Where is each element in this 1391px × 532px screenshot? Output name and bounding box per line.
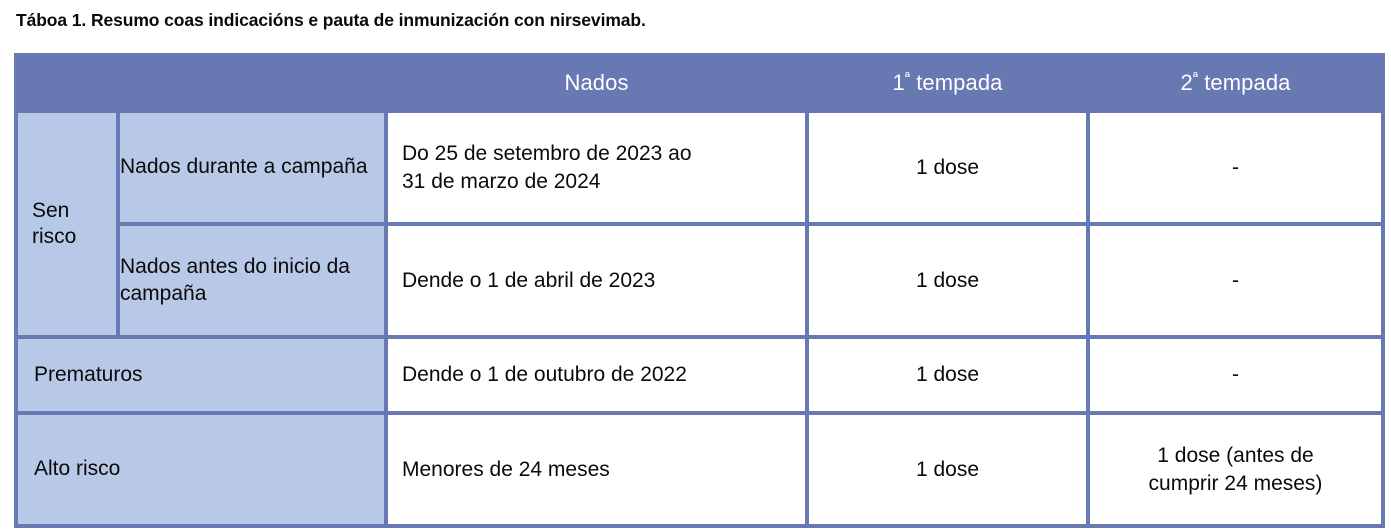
cell-nados-dates: Dende o 1 de outubro de 2022 (388, 339, 805, 411)
cell-nados-dates: Menores de 24 meses (388, 415, 805, 524)
header-cell-season-2: 2ª tempada (1090, 57, 1381, 109)
table-row: Alto risco Menores de 24 meses 1 dose 1 … (18, 415, 1381, 524)
cell-season-2-dose-line-2: cumprir 24 meses) (1098, 470, 1373, 497)
header-season-2-word: tempada (1198, 70, 1291, 95)
cell-season-2-dose: - (1090, 113, 1381, 222)
table-row: Sen risco Nados durante a campaña Do 25 … (18, 113, 1381, 222)
row-label-sen-risco: Sen risco (18, 113, 116, 335)
table-container: Nados 1ª tempada 2ª tempada Sen risco Na… (14, 53, 1377, 528)
immunization-schedule-table: Nados 1ª tempada 2ª tempada Sen risco Na… (14, 53, 1385, 528)
header-cell-nados: Nados (388, 57, 805, 109)
header-season-2-number: 2 (1180, 70, 1192, 95)
cell-season-1-dose: 1 dose (809, 339, 1086, 411)
cell-nados-dates-line-2: 31 de marzo de 2024 (402, 168, 795, 195)
header-season-1-word: tempada (910, 70, 1003, 95)
cell-season-1-dose: 1 dose (809, 226, 1086, 335)
table-row: Prematuros Dende o 1 de outubro de 2022 … (18, 339, 1381, 411)
cell-season-2-dose: - (1090, 226, 1381, 335)
header-season-1-number: 1 (892, 70, 904, 95)
cell-nados-dates: Do 25 de setembro de 2023 ao 31 de marzo… (388, 113, 805, 222)
row-group-nados-durante-campana: Nados durante a campaña (120, 113, 384, 222)
cell-season-2-dose: - (1090, 339, 1381, 411)
table-header-row: Nados 1ª tempada 2ª tempada (18, 57, 1381, 109)
cell-season-1-dose: 1 dose (809, 415, 1086, 524)
header-cell-season-1: 1ª tempada (809, 57, 1086, 109)
row-group-nados-antes-inicio: Nados antes do inicio da campaña (120, 226, 384, 335)
cell-season-2-dose: 1 dose (antes de cumprir 24 meses) (1090, 415, 1381, 524)
cell-season-2-dose-line-1: 1 dose (antes de (1098, 442, 1373, 469)
cell-nados-dates-line-1: Do 25 de setembro de 2023 ao (402, 140, 795, 167)
table-caption: Táboa 1. Resumo coas indicacións e pauta… (16, 10, 646, 31)
row-label-prematuros: Prematuros (18, 339, 384, 411)
header-cell-blank (18, 57, 384, 109)
table-row: Nados antes do inicio da campaña Dende o… (18, 226, 1381, 335)
cell-nados-dates: Dende o 1 de abril de 2023 (388, 226, 805, 335)
row-label-alto-risco: Alto risco (18, 415, 384, 524)
page-root: Táboa 1. Resumo coas indicacións e pauta… (0, 0, 1391, 532)
cell-season-1-dose: 1 dose (809, 113, 1086, 222)
